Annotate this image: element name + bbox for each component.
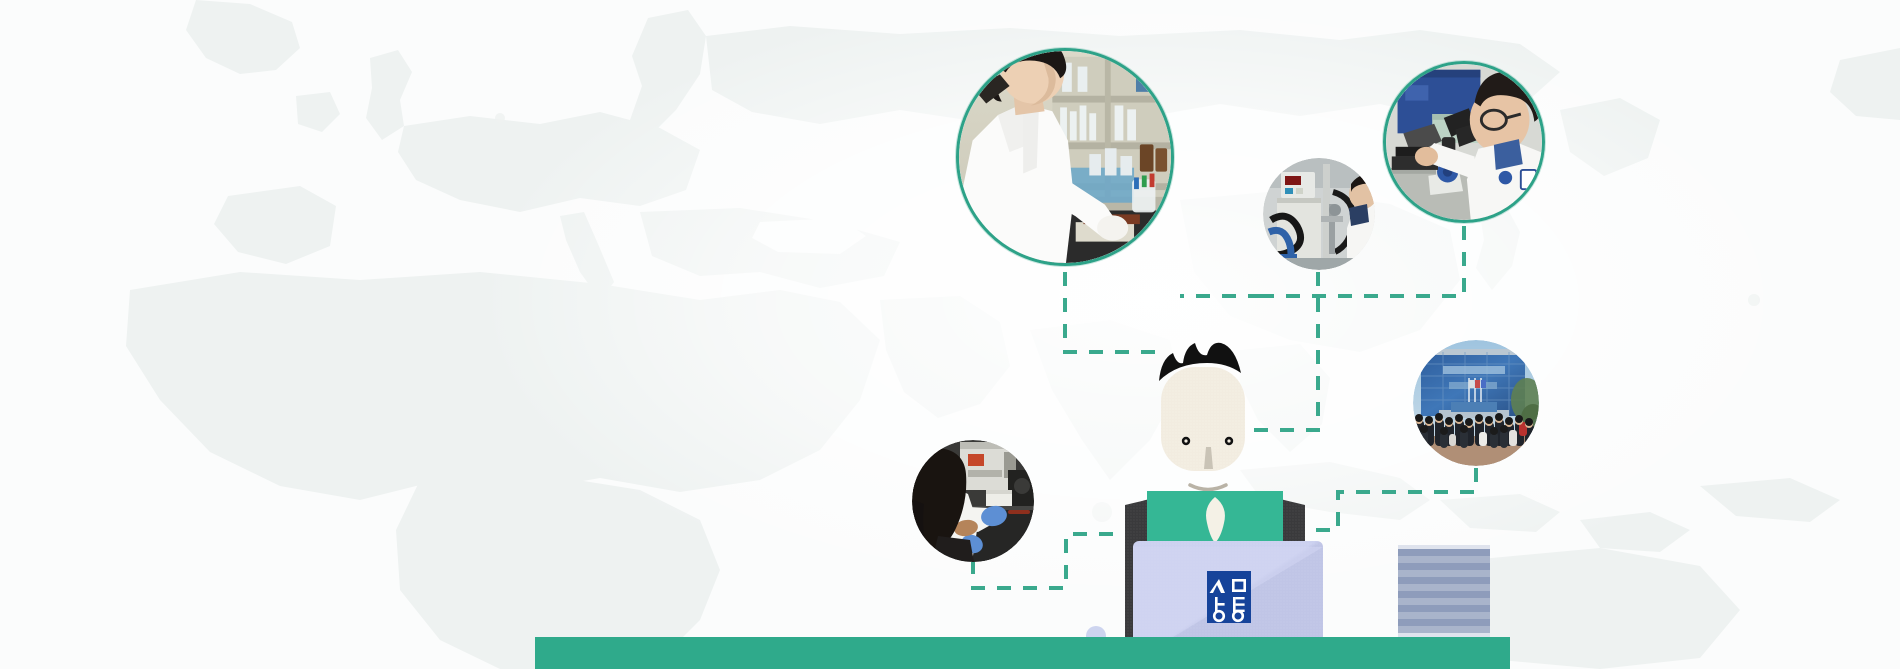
bubble-microscope-scientist[interactable] bbox=[1383, 61, 1545, 223]
photo-female-researcher bbox=[912, 440, 1034, 562]
photo-lab-equipment-station bbox=[1263, 158, 1375, 270]
office-building bbox=[1398, 545, 1490, 639]
photo-campus-group bbox=[1413, 340, 1539, 466]
avatar-head bbox=[1159, 343, 1245, 490]
bubble-female-researcher-gloves[interactable] bbox=[912, 440, 1034, 562]
laptop-logo bbox=[1207, 571, 1251, 623]
ground-bar bbox=[535, 637, 1510, 669]
researcher-avatar bbox=[1085, 345, 1345, 645]
photo-microscope-scientist bbox=[1386, 64, 1542, 220]
hero-illustration: Global Research Network bbox=[0, 0, 1900, 669]
bubble-campus-group-photo[interactable] bbox=[1413, 340, 1539, 466]
bubble-lab-equipment-station[interactable] bbox=[1263, 158, 1375, 270]
connector-lab-technician bbox=[1065, 272, 1160, 352]
photo-lab-technician-glassware bbox=[959, 51, 1171, 263]
bubble-lab-technician-glassware[interactable] bbox=[956, 48, 1174, 266]
connector-lines bbox=[0, 0, 1900, 669]
